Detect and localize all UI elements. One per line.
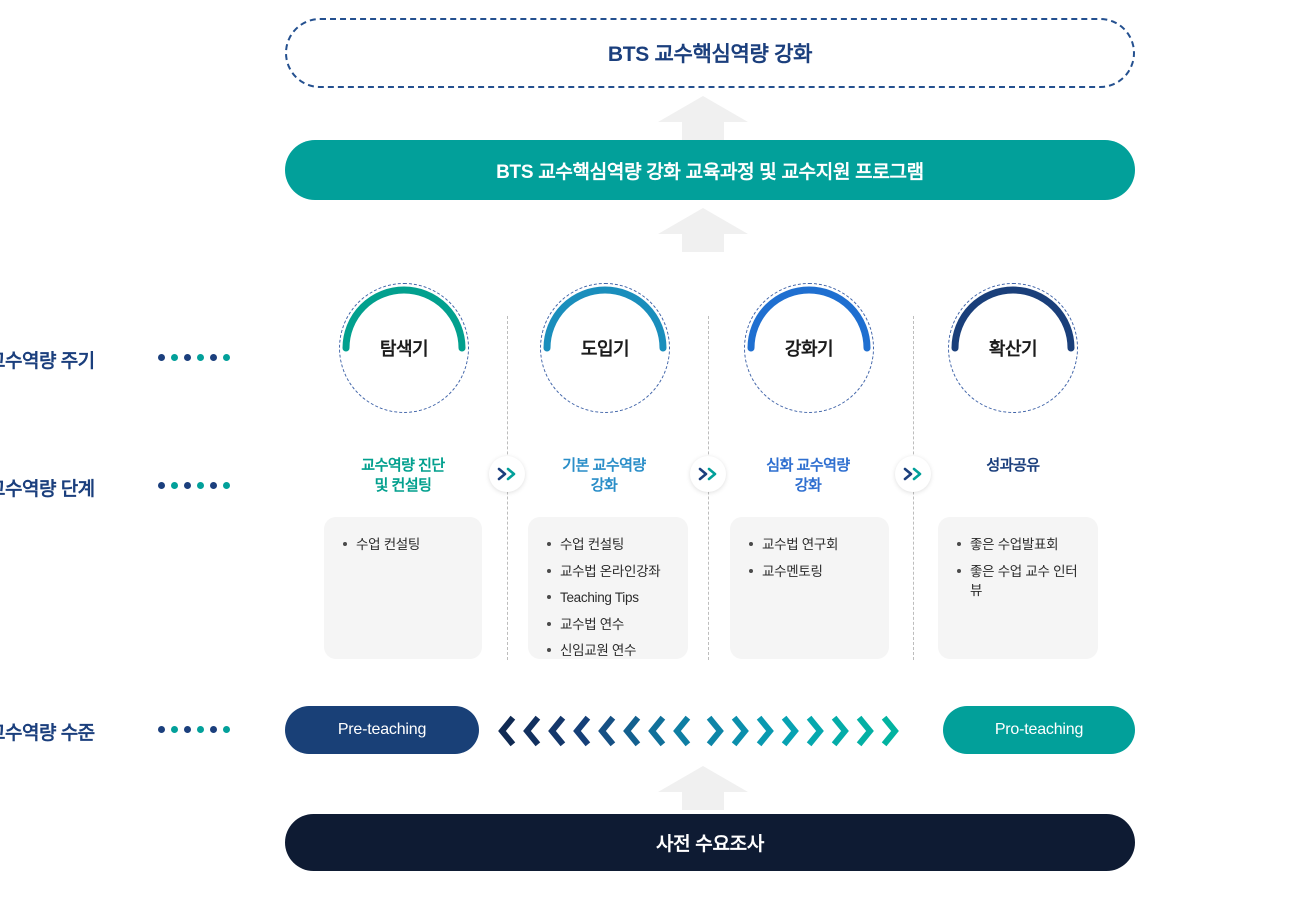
dot-connector-cycle — [158, 354, 230, 361]
pro-teaching-label: Pro-teaching — [995, 721, 1083, 739]
stage-title-1: 교수역량 진단 및 컨설팅 — [333, 456, 473, 497]
row-label-step: 교수역량 단계 — [0, 474, 95, 501]
dot-connector-step — [158, 482, 230, 489]
pro-teaching-pill: Pro-teaching — [943, 706, 1135, 754]
program-box: BTS 교수핵심역량 강화 교육과정 및 교수지원 프로그램 — [285, 140, 1135, 200]
stage-title-3: 심화 교수역량 강화 — [738, 456, 878, 497]
survey-label: 사전 수요조사 — [656, 829, 764, 856]
arrow-up-icon — [658, 208, 748, 252]
list-item: 수업 컨설팅 — [342, 535, 468, 555]
cycle-label: 강화기 — [745, 335, 873, 361]
cycle-label: 확산기 — [949, 335, 1077, 361]
content-list: 수업 컨설팅 교수법 온라인강좌 Teaching Tips 교수법 연수 신임… — [546, 535, 674, 661]
list-item: 좋은 수업발표회 — [956, 535, 1084, 555]
pre-teaching-label: Pre-teaching — [338, 721, 426, 739]
content-box-3: 교수법 연구회 교수멘토링 — [730, 517, 889, 659]
list-item: 수업 컨설팅 — [546, 535, 674, 555]
list-item: 좋은 수업 교수 인터뷰 — [956, 562, 1084, 601]
vision-label: BTS 교수핵심역량 강화 — [608, 38, 812, 68]
vision-box: BTS 교수핵심역량 강화 — [285, 18, 1135, 88]
list-item: 교수법 연구회 — [748, 535, 875, 555]
double-chevron-right-icon[interactable] — [895, 456, 931, 492]
row-label-level: 교수역량 수준 — [0, 718, 95, 745]
stage-title-2: 기본 교수역량 강화 — [534, 456, 674, 497]
content-list: 좋은 수업발표회 좋은 수업 교수 인터뷰 — [956, 535, 1084, 601]
cycle-circle-4: 확산기 — [948, 283, 1078, 413]
content-list: 교수법 연구회 교수멘토링 — [748, 535, 875, 581]
list-item: 교수법 연수 — [546, 615, 674, 635]
content-list: 수업 컨설팅 — [342, 535, 468, 555]
row-label-cycle: 교수역량 주기 — [0, 346, 95, 373]
list-item: 교수법 온라인강좌 — [546, 562, 674, 582]
double-chevron-right-icon[interactable] — [489, 456, 525, 492]
stage-title-4: 성과공유 — [943, 456, 1083, 476]
content-box-2: 수업 컨설팅 교수법 온라인강좌 Teaching Tips 교수법 연수 신임… — [528, 517, 688, 659]
content-box-1: 수업 컨설팅 — [324, 517, 482, 659]
arrow-up-icon — [658, 96, 748, 140]
survey-box: 사전 수요조사 — [285, 814, 1135, 871]
cycle-circle-1: 탐색기 — [339, 283, 469, 413]
arrow-up-icon — [658, 766, 748, 810]
cycle-label: 탐색기 — [340, 335, 468, 361]
list-item: 교수멘토링 — [748, 562, 875, 582]
teaching-progress-chevrons — [497, 712, 925, 750]
program-label: BTS 교수핵심역량 강화 교육과정 및 교수지원 프로그램 — [496, 157, 924, 184]
list-item: 신임교원 연수 — [546, 641, 674, 661]
pre-teaching-pill: Pre-teaching — [285, 706, 479, 754]
cycle-label: 도입기 — [541, 335, 669, 361]
double-chevron-right-icon[interactable] — [690, 456, 726, 492]
cycle-circle-2: 도입기 — [540, 283, 670, 413]
content-box-4: 좋은 수업발표회 좋은 수업 교수 인터뷰 — [938, 517, 1098, 659]
list-item: Teaching Tips — [546, 588, 674, 608]
dot-connector-level — [158, 726, 230, 733]
cycle-circle-3: 강화기 — [744, 283, 874, 413]
diagram-canvas: BTS 교수핵심역량 강화 BTS 교수핵심역량 강화 교육과정 및 교수지원 … — [0, 0, 1300, 900]
